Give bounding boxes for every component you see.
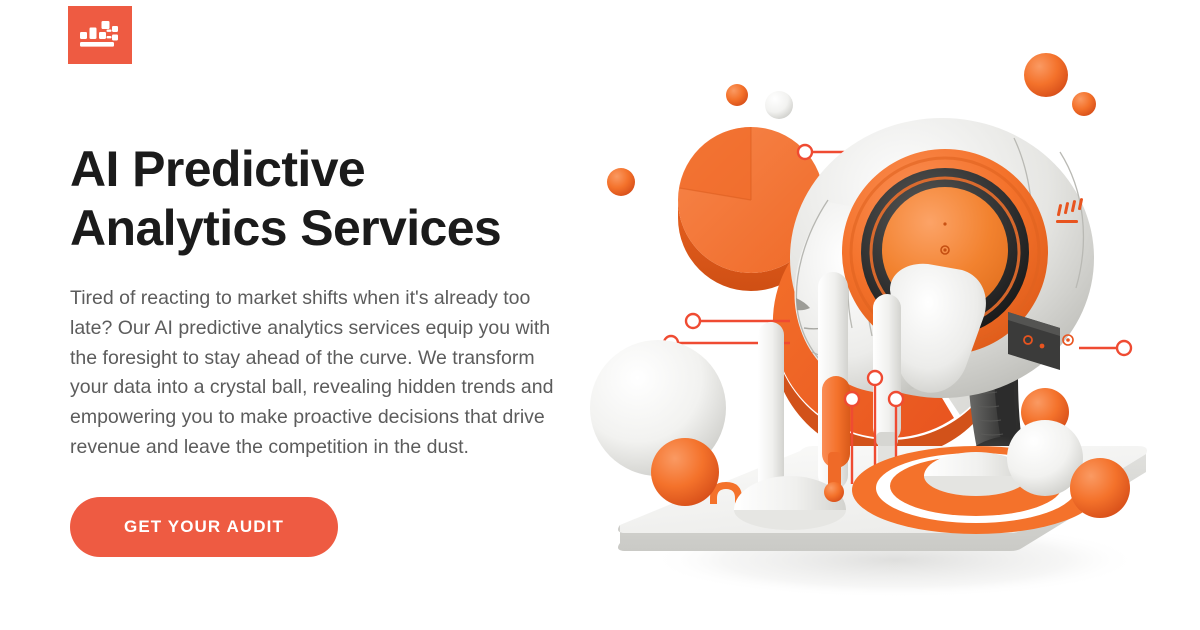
- bar-white-tall: [758, 322, 784, 494]
- pin-line-5-right: [1079, 341, 1131, 355]
- analytics-bars-logo-icon: [79, 18, 121, 52]
- pie-chart-wedge: [680, 127, 752, 200]
- sphere-orange-on-ring: [1070, 458, 1130, 518]
- headline-line-1: AI Predictive: [70, 140, 590, 199]
- sphere-orange-left-small: [607, 168, 635, 196]
- sphere-white-top-mid: [765, 91, 793, 119]
- page-title: AI Predictive Analytics Services: [70, 140, 590, 258]
- hero-copy: AI Predictive Analytics Services Tired o…: [70, 140, 590, 557]
- hero-page: AI Predictive Analytics Services Tired o…: [0, 0, 1200, 630]
- slab-sphere-orange-1: [824, 482, 844, 502]
- sphere-orange-top-mid-small: [726, 84, 748, 106]
- sphere-orange-top-right-small: [1072, 92, 1096, 116]
- sphere-orange-top-right-large: [1024, 53, 1068, 97]
- hero-description: Tired of reacting to market shifts when …: [70, 284, 570, 463]
- bar-white-with-orange: [818, 272, 850, 492]
- get-your-audit-button[interactable]: GET YOUR AUDIT: [70, 497, 338, 557]
- headline-line-2: Analytics Services: [70, 199, 590, 258]
- hero-illustration: [590, 40, 1190, 610]
- brand-logo[interactable]: [68, 6, 132, 64]
- sphere-orange-slab-left: [651, 438, 719, 506]
